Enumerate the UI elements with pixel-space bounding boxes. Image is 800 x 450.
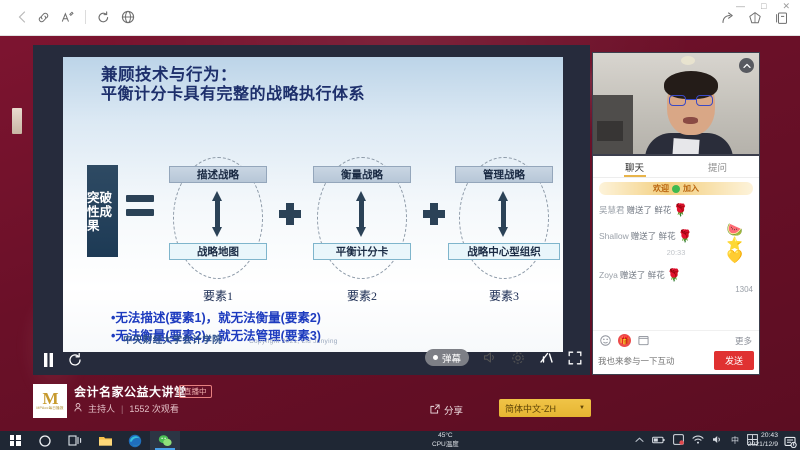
emoji-icon[interactable] xyxy=(600,335,611,346)
player-left-controls xyxy=(43,353,82,367)
message-author: Shallow xyxy=(599,231,629,241)
link-icon[interactable] xyxy=(37,11,50,24)
watermelon-emoji-icon: 🍉 xyxy=(715,223,755,237)
video-player[interactable]: 兼顾技术与行为： 平衡计分卡具有完整的战略执行体系 突破性成果 描述战略 战略地… xyxy=(33,45,590,375)
maximize-button[interactable]: □ xyxy=(761,1,766,11)
stream-meta: 主持人 | 1552 次观看 xyxy=(74,402,179,415)
close-button[interactable]: ✕ xyxy=(782,1,790,11)
quality-icon[interactable] xyxy=(539,351,554,365)
rose-emoji-icon: 🌹 xyxy=(667,269,682,281)
chat-input-row: 发送 xyxy=(593,350,759,374)
speaker-glasses xyxy=(669,95,713,106)
slide-diagram: 突破性成果 描述战略 战略地图 要素1 衡量战略 平衡计分卡 要素2 xyxy=(79,157,549,287)
bullet-item: •无法描述(要素1)，就无法衡量(要素2) xyxy=(111,309,531,327)
rose-emoji-icon: 🌹 xyxy=(678,230,693,242)
breakthrough-result-label: 突破性成果 xyxy=(87,165,118,257)
stream-title: 会计名家公益大讲堂 xyxy=(74,383,187,400)
cpu-temperature: 45°C CPU温度 xyxy=(432,432,459,449)
presentation-slide: 兼顾技术与行为： 平衡计分卡具有完整的战略执行体系 突破性成果 描述战略 战略地… xyxy=(63,57,563,352)
chevron-up-icon[interactable] xyxy=(635,436,644,445)
favorite-icon[interactable] xyxy=(748,11,762,25)
slide-footer-copyright: Copyright 2021, Liu Junying xyxy=(249,338,338,345)
more-button[interactable]: 更多 xyxy=(735,335,752,347)
double-arrow-icon xyxy=(212,191,223,237)
left-edge-marker xyxy=(12,108,22,134)
logo-subtitle: MPAcc每日播报 xyxy=(36,406,63,411)
group-top-chip: 管理战略 xyxy=(455,166,553,183)
battery-icon[interactable] xyxy=(652,436,665,446)
message-text: 赠送了 鲜花 xyxy=(627,204,672,216)
share-button[interactable]: 分享 xyxy=(430,403,463,417)
file-explorer-icon[interactable] xyxy=(90,431,120,450)
group-bottom-chip: 平衡计分卡 xyxy=(313,243,411,260)
double-arrow-icon xyxy=(356,191,367,237)
speaker-camera-feed[interactable] xyxy=(592,52,760,155)
browser-right-actions xyxy=(721,11,788,25)
gear-icon[interactable] xyxy=(511,351,525,365)
language-value: 简体中文-ZH xyxy=(505,402,556,415)
slide-footer: 中央财经大学会计学院 Copyright 2021, Liu Junying xyxy=(63,330,563,346)
share-icon[interactable] xyxy=(721,11,735,25)
welcome-suffix: 加入 xyxy=(683,183,699,194)
danmaku-label: 弹幕 xyxy=(442,351,461,365)
group-caption: 要素1 xyxy=(165,287,271,304)
taskbar-clock[interactable]: 20:43 2021/12/9 xyxy=(748,432,778,449)
chat-message: 吴慧君 赠送了 鲜花 🌹 xyxy=(599,204,753,216)
message-text: 赠送了 鲜花 xyxy=(631,230,676,242)
refresh-icon[interactable] xyxy=(97,11,110,24)
toolbar-divider xyxy=(85,10,86,24)
person-icon xyxy=(74,403,82,414)
language-select[interactable]: 简体中文-ZH ▼ xyxy=(499,399,591,417)
channel-logo: M MPAcc每日播报 xyxy=(33,384,67,418)
camera-dark-area-2 xyxy=(597,121,623,141)
screen: — □ ✕ xyxy=(0,0,800,450)
slide-title: 兼顾技术与行为： 平衡计分卡具有完整的战略执行体系 xyxy=(101,65,531,105)
speaker-collar xyxy=(672,138,699,155)
message-author: Zoya xyxy=(599,270,618,280)
task-view-icon[interactable] xyxy=(60,431,90,450)
annotate-pen-icon[interactable] xyxy=(61,11,74,24)
live-status-badge: 直播中 xyxy=(179,385,212,398)
star-emoji-icon: ⭐ xyxy=(715,237,755,251)
message-text: 赠送了 鲜花 xyxy=(620,269,665,281)
wechat-icon[interactable] xyxy=(150,431,180,450)
clock-time: 20:43 xyxy=(748,432,778,441)
danmaku-dot-icon xyxy=(433,355,438,360)
diagram-group-3: 管理战略 战略中心型组织 要素3 xyxy=(451,157,557,285)
diagram-group-1: 描述战略 战略地图 要素1 xyxy=(165,157,271,285)
slide-footer-org: 中央财经大学会计学院 xyxy=(123,332,222,346)
diagram-group-2: 衡量战略 平衡计分卡 要素2 xyxy=(309,157,415,285)
pause-icon[interactable] xyxy=(43,353,54,367)
chat-tabs: 聊天 提问 xyxy=(593,156,759,178)
cpu-temp-value: 45°C xyxy=(432,432,459,441)
welcome-banner: 欢迎 加入 xyxy=(599,182,753,195)
double-arrow-icon xyxy=(498,191,509,237)
edge-browser-icon[interactable] xyxy=(120,431,150,450)
notification-icon[interactable] xyxy=(784,435,797,450)
windows-start-icon[interactable] xyxy=(0,431,30,450)
group-bottom-chip: 战略地图 xyxy=(169,243,267,260)
cortana-circle-icon[interactable] xyxy=(30,431,60,450)
collections-icon[interactable] xyxy=(775,11,788,25)
ime-language-indicator[interactable]: 中 xyxy=(731,435,739,446)
cpu-temp-label: CPU温度 xyxy=(432,441,459,450)
rose-emoji-icon: 🌹 xyxy=(673,204,688,216)
globe-icon[interactable] xyxy=(121,10,135,24)
host-label: 主持人 xyxy=(88,402,115,415)
message-author: 吴慧君 xyxy=(599,204,625,216)
browser-left-actions xyxy=(18,10,135,24)
chat-messages[interactable]: 吴慧君 赠送了 鲜花 🌹 🍉 ⭐ 💛 Shallow 赠送了 鲜花 🌹 20:3… xyxy=(593,197,759,330)
chat-toolbar: 🎁 更多 xyxy=(593,330,759,350)
fullscreen-icon[interactable] xyxy=(568,351,582,365)
stream-info-bar: M MPAcc每日播报 会计名家公益大讲堂 直播中 主持人 | 1552 次观看… xyxy=(33,381,590,421)
view-count: 1552 次观看 xyxy=(129,402,179,415)
group-caption: 要素2 xyxy=(309,287,415,304)
group-bottom-chip: 战略中心型组织 xyxy=(448,243,560,260)
tray-app-icon[interactable] xyxy=(673,434,684,447)
player-right-controls: 弹幕 xyxy=(425,349,582,366)
send-button[interactable]: 发送 xyxy=(714,351,754,370)
tab-qa[interactable]: 提问 xyxy=(676,156,759,177)
chat-panel: 聊天 提问 欢迎 加入 吴慧君 赠送了 鲜花 🌹 🍉 ⭐ 💛 Shallow 赠… xyxy=(592,155,760,375)
group-top-chip: 衡量战略 xyxy=(313,166,411,183)
windows-taskbar: 45°C CPU温度 中 20:43 xyxy=(0,431,800,450)
chat-input[interactable] xyxy=(598,351,709,370)
plus-sign-icon-2 xyxy=(423,203,445,225)
group-top-chip: 描述战略 xyxy=(169,166,267,183)
chevron-up-icon[interactable] xyxy=(739,58,754,73)
equals-sign-icon xyxy=(126,195,154,216)
image-icon[interactable] xyxy=(638,335,649,346)
volume-icon[interactable] xyxy=(483,351,497,364)
clock-date: 2021/12/9 xyxy=(748,441,778,450)
window-controls: — □ ✕ xyxy=(736,1,790,11)
plus-sign-icon-1 xyxy=(279,203,301,225)
slide-title-line2: 平衡计分卡具有完整的战略执行体系 xyxy=(101,85,531,105)
minimize-button[interactable]: — xyxy=(736,1,745,11)
welcome-prefix: 欢迎 xyxy=(653,183,669,194)
gift-count: 1304 xyxy=(735,285,753,294)
heart-emoji-icon: 💛 xyxy=(715,250,755,264)
speaker-mouth xyxy=(683,117,698,124)
meta-divider: | xyxy=(121,404,123,414)
gift-animation-column: 🍉 ⭐ 💛 xyxy=(715,223,755,264)
back-arrow-icon[interactable] xyxy=(18,11,26,23)
chevron-down-icon: ▼ xyxy=(579,405,585,411)
share-label: 分享 xyxy=(444,403,463,417)
logo-mark: M xyxy=(42,391,57,406)
system-tray: 中 xyxy=(635,431,758,450)
chat-message: Zoya 赠送了 鲜花 🌹 xyxy=(599,269,753,281)
replay-icon[interactable] xyxy=(68,353,82,367)
tab-chat[interactable]: 聊天 xyxy=(593,156,676,177)
browser-toolbar: — □ ✕ xyxy=(0,0,800,36)
share-box-icon xyxy=(430,404,440,417)
wechat-icon xyxy=(672,185,680,193)
danmaku-toggle[interactable]: 弹幕 xyxy=(425,349,469,366)
gift-icon[interactable]: 🎁 xyxy=(618,334,631,347)
wifi-icon[interactable] xyxy=(692,435,704,446)
ceiling-lamp xyxy=(681,56,695,65)
speaker-icon[interactable] xyxy=(712,435,723,446)
slide-title-line1: 兼顾技术与行为： xyxy=(101,65,531,85)
group-caption: 要素3 xyxy=(451,287,557,304)
